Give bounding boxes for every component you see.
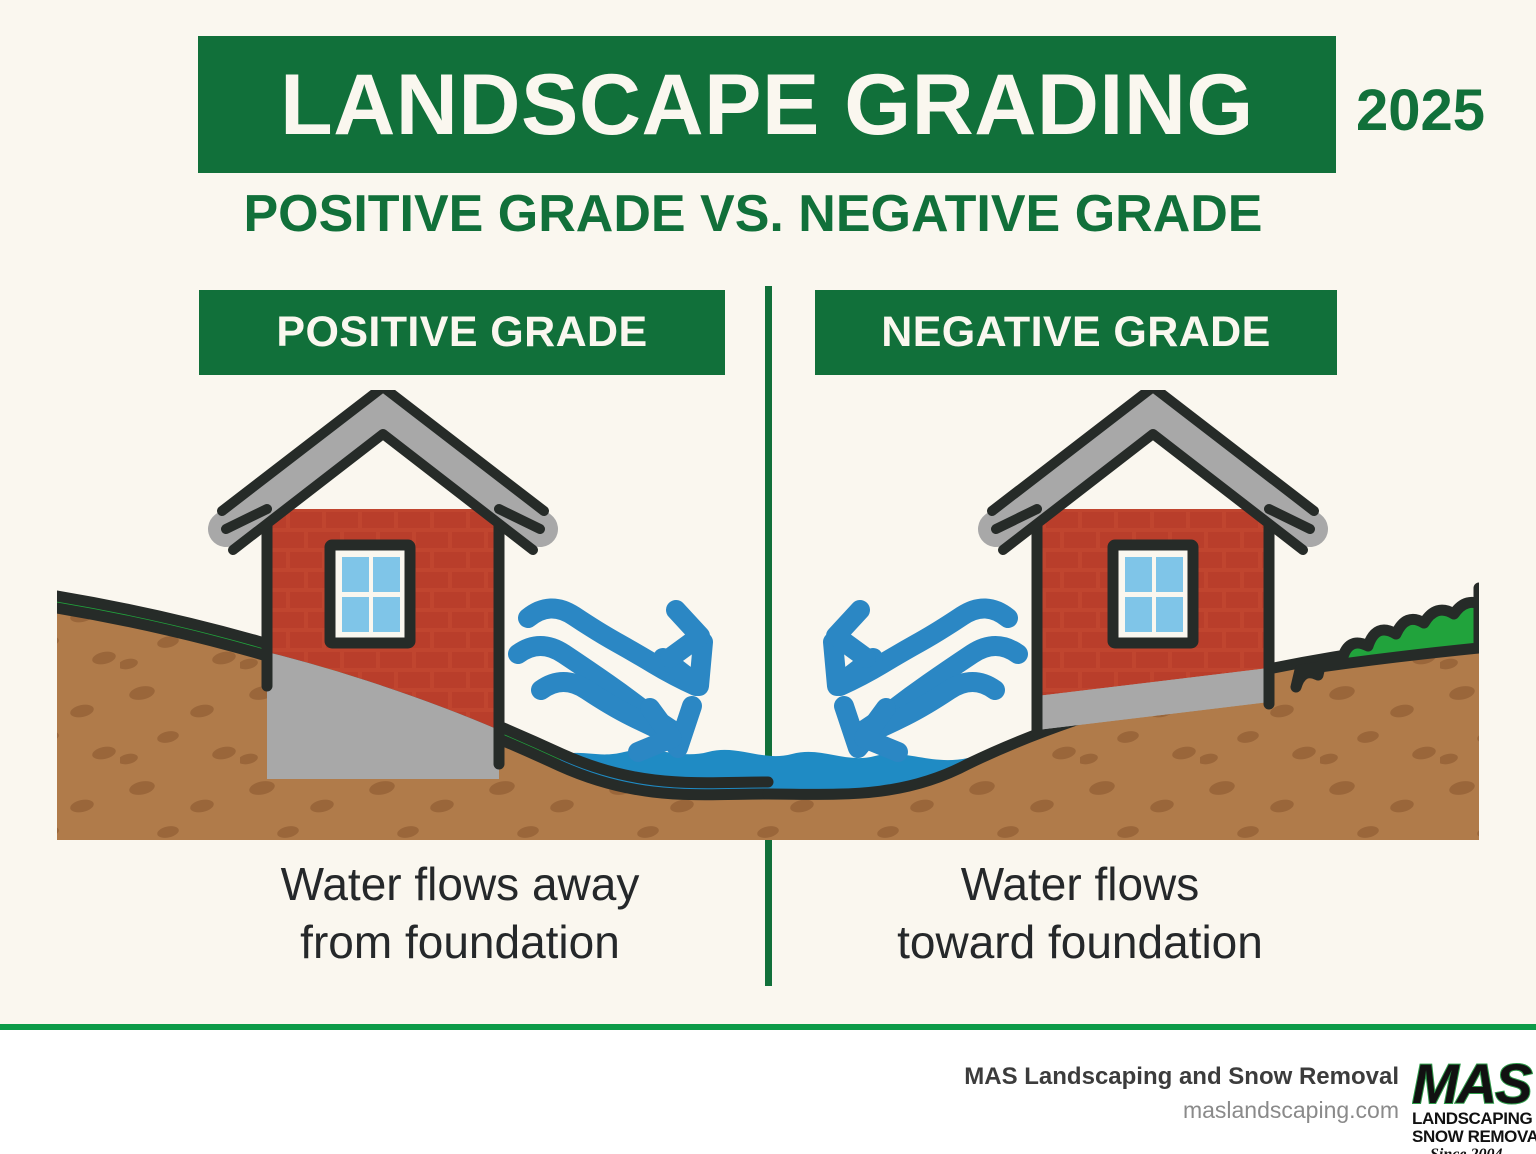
- panel-label-negative-grade: NEGATIVE GRADE: [815, 290, 1337, 375]
- right-house-window-pane-bl: [1125, 597, 1152, 632]
- footer-website[interactable]: maslandscaping.com: [1183, 1099, 1399, 1122]
- left-house-window-pane-tr: [373, 557, 400, 592]
- left-brick-house: [222, 390, 544, 779]
- caption-negative-line1: Water flows: [961, 858, 1200, 910]
- panel-label-positive-grade: POSITIVE GRADE: [199, 290, 725, 375]
- footer-company-name: MAS Landscaping and Snow Removal: [964, 1065, 1399, 1089]
- page-title: LANDSCAPE GRADING: [280, 62, 1254, 148]
- right-house-window-pane-tr: [1156, 557, 1183, 592]
- logo-since-text: Since 2004: [1430, 1147, 1502, 1154]
- right-house-window-pane-tl: [1125, 557, 1152, 592]
- caption-negative-grade: Water flows toward foundation: [780, 856, 1380, 971]
- footer: [0, 1030, 1536, 1154]
- mas-logo[interactable]: MAS LANDSCAPING SNOW REMOVAL Since 2004: [1412, 1062, 1536, 1154]
- right-brick-house: [992, 390, 1314, 732]
- caption-positive-line2: from foundation: [160, 914, 760, 972]
- year-label: 2025: [1356, 82, 1485, 140]
- infographic-poster: LANDSCAPE GRADING 2025 POSITIVE GRADE VS…: [0, 0, 1536, 1154]
- panel-label-positive-grade-text: POSITIVE GRADE: [276, 311, 647, 354]
- right-house-window-pane-br: [1156, 597, 1183, 632]
- left-house-window-pane-br: [373, 597, 400, 632]
- left-house-window-pane-tl: [342, 557, 369, 592]
- panel-label-negative-grade-text: NEGATIVE GRADE: [881, 311, 1270, 354]
- caption-positive-line1: Water flows away: [281, 858, 640, 910]
- subtitle: POSITIVE GRADE VS. NEGATIVE GRADE: [0, 188, 1506, 240]
- logo-wordmark: MAS: [1412, 1062, 1530, 1112]
- caption-negative-line2: toward foundation: [780, 914, 1380, 972]
- title-banner: LANDSCAPE GRADING: [198, 36, 1336, 173]
- left-house-window-pane-bl: [342, 597, 369, 632]
- logo-landscaping-text: LANDSCAPING: [1412, 1110, 1532, 1127]
- caption-positive-grade: Water flows away from foundation: [160, 856, 760, 971]
- logo-snow-removal-text: SNOW REMOVAL: [1412, 1128, 1536, 1145]
- grading-illustration: [0, 390, 1536, 840]
